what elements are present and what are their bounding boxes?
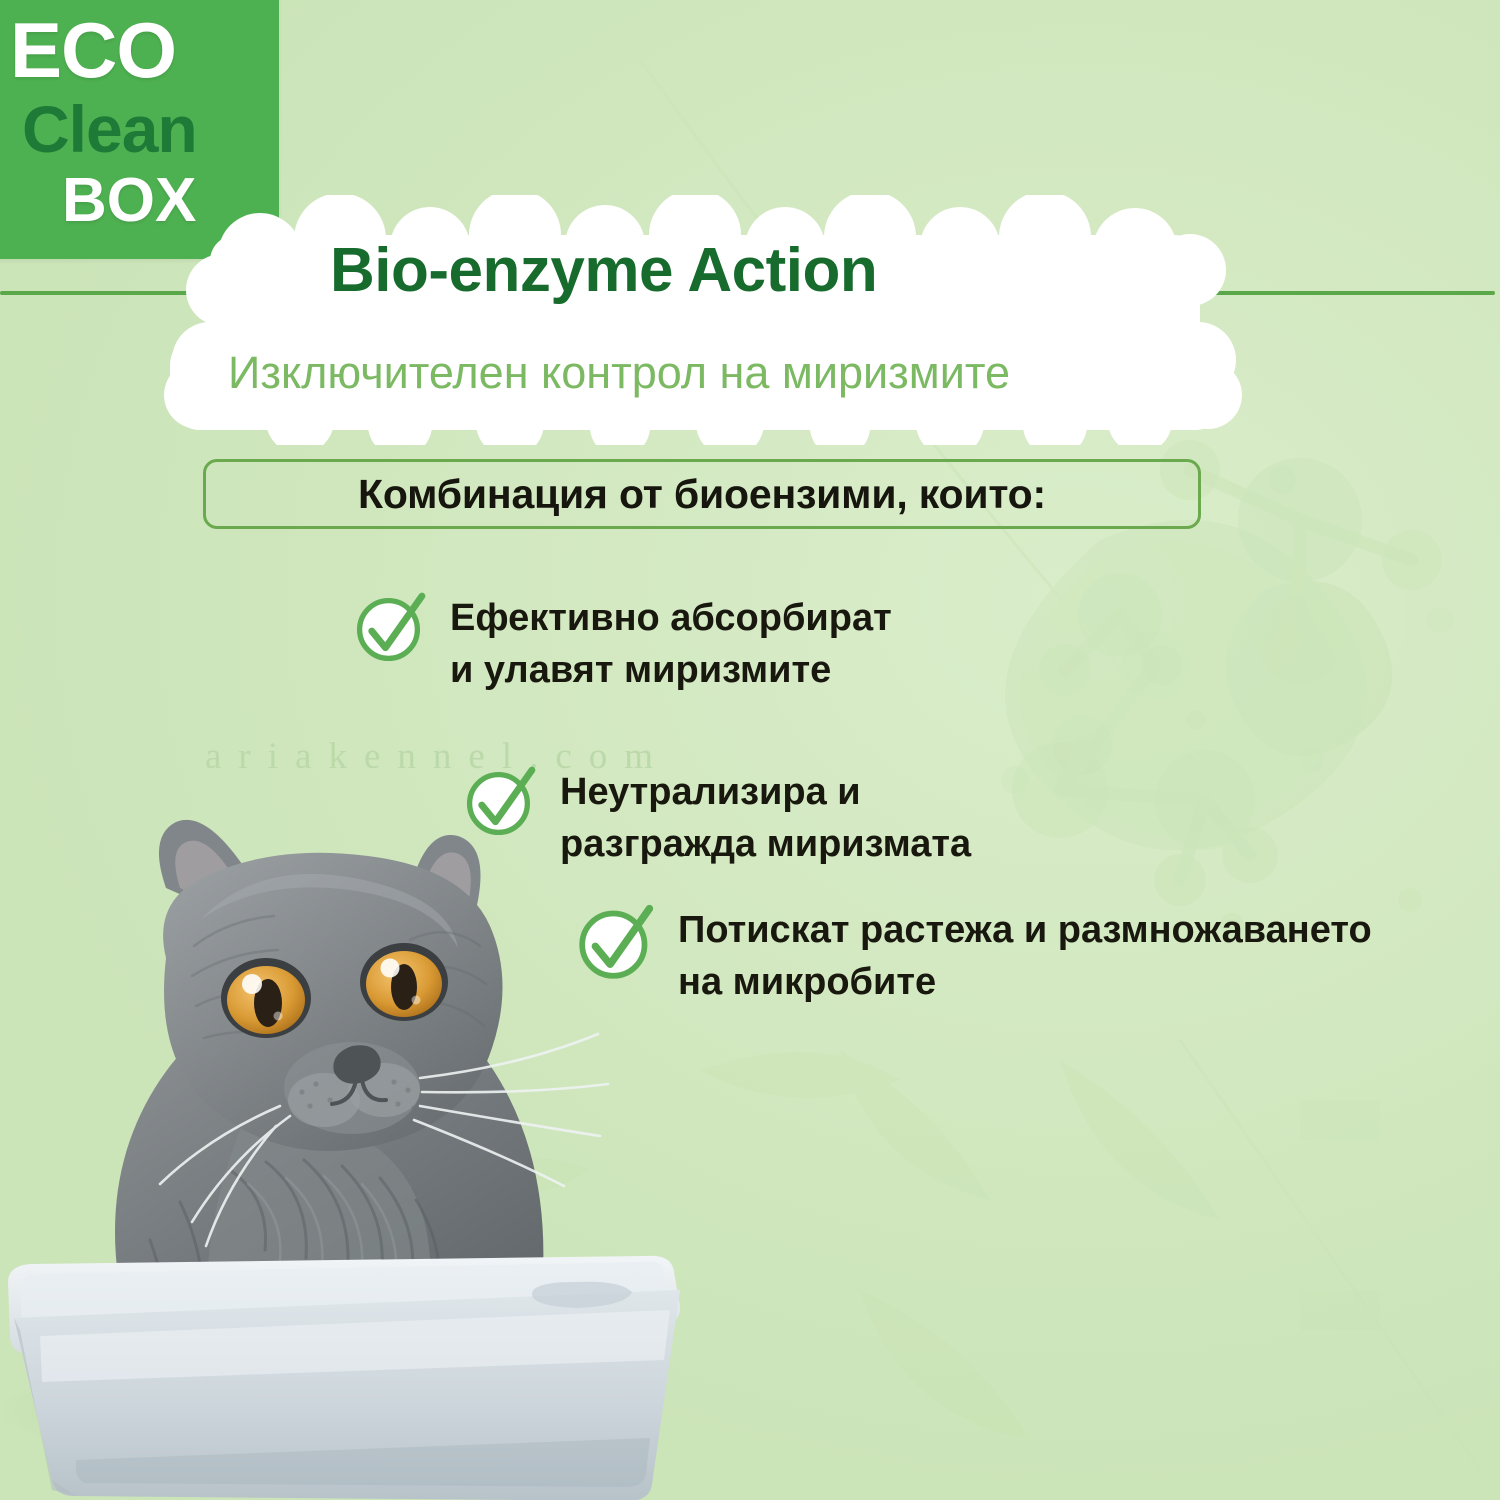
promo-poster: ariakennel.com ECO Clean BOX <box>0 0 1500 1500</box>
benefit-text-3: Потискат растежа и размножаването на мик… <box>678 900 1372 1009</box>
cat-in-litter-box-image <box>0 770 710 1500</box>
divider-left <box>0 291 268 295</box>
benefit-text-1-line2: и улавят миризмите <box>450 649 831 691</box>
logo-text-box: BOX <box>62 170 196 232</box>
page-subheadline: Изключителен контрол на миризмите <box>228 350 1238 395</box>
benefit-text-3-line1: Потискат растежа и размножаването <box>678 909 1372 951</box>
benefit-item-1: Ефективно абсорбират и улавят миризмите <box>352 588 892 697</box>
benefit-text-1: Ефективно абсорбират и улавят миризмите <box>450 588 892 697</box>
section-pill-label: Комбинация от биоензими, които: <box>358 471 1046 518</box>
logo-text-clean: Clean <box>22 96 197 162</box>
section-pill: Комбинация от биоензими, които: <box>203 459 1201 529</box>
divider-right <box>1150 291 1495 295</box>
logo-text-eco: ECO <box>10 11 176 89</box>
brand-logo[interactable]: ECO Clean BOX <box>0 0 279 259</box>
benefit-text-3-line2: на микробите <box>678 961 936 1003</box>
page-headline: Bio-enzyme Action <box>330 240 1130 302</box>
benefit-text-1-line1: Ефективно абсорбират <box>450 597 892 639</box>
check-circle-icon <box>352 590 428 666</box>
